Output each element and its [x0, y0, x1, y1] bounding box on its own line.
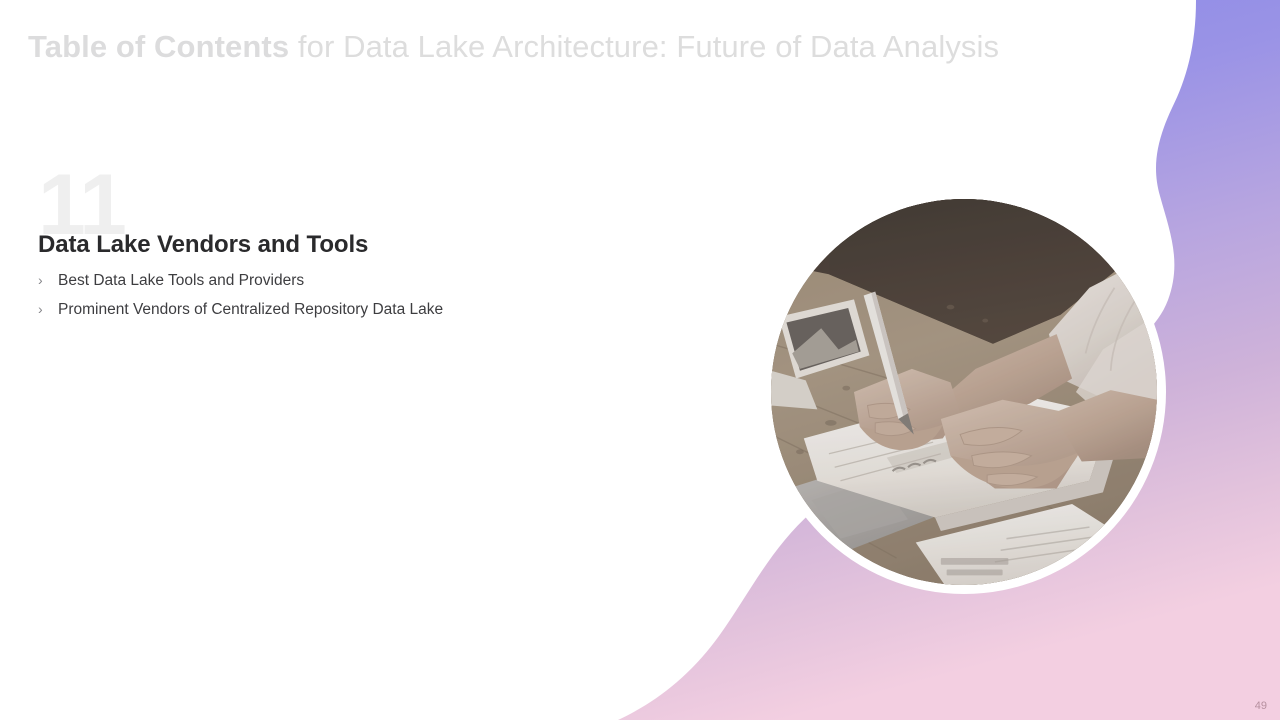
page-title-rest: for Data Lake Architecture: Future of Da… — [289, 29, 999, 64]
photo-circle-frame — [762, 190, 1166, 594]
writing-hands-photo — [771, 199, 1157, 585]
list-item[interactable]: › Best Data Lake Tools and Providers — [38, 270, 658, 291]
toc-list: › Best Data Lake Tools and Providers › P… — [38, 270, 658, 320]
list-item-label: Prominent Vendors of Centralized Reposit… — [58, 299, 443, 320]
page-title-strong: Table of Contents — [28, 29, 289, 64]
list-item[interactable]: › Prominent Vendors of Centralized Repos… — [38, 299, 658, 320]
page-number: 49 — [1255, 699, 1267, 713]
list-item-label: Best Data Lake Tools and Providers — [58, 270, 304, 291]
page-title: Table of Contents for Data Lake Architec… — [28, 26, 999, 68]
slide-canvas: Table of Contents for Data Lake Architec… — [0, 0, 1280, 720]
section-content: 11 Data Lake Vendors and Tools › Best Da… — [38, 168, 658, 328]
photo-circle-clip — [771, 199, 1157, 585]
chevron-right-icon: › — [38, 270, 58, 291]
chevron-right-icon: › — [38, 299, 58, 320]
section-heading: Data Lake Vendors and Tools — [38, 230, 658, 260]
